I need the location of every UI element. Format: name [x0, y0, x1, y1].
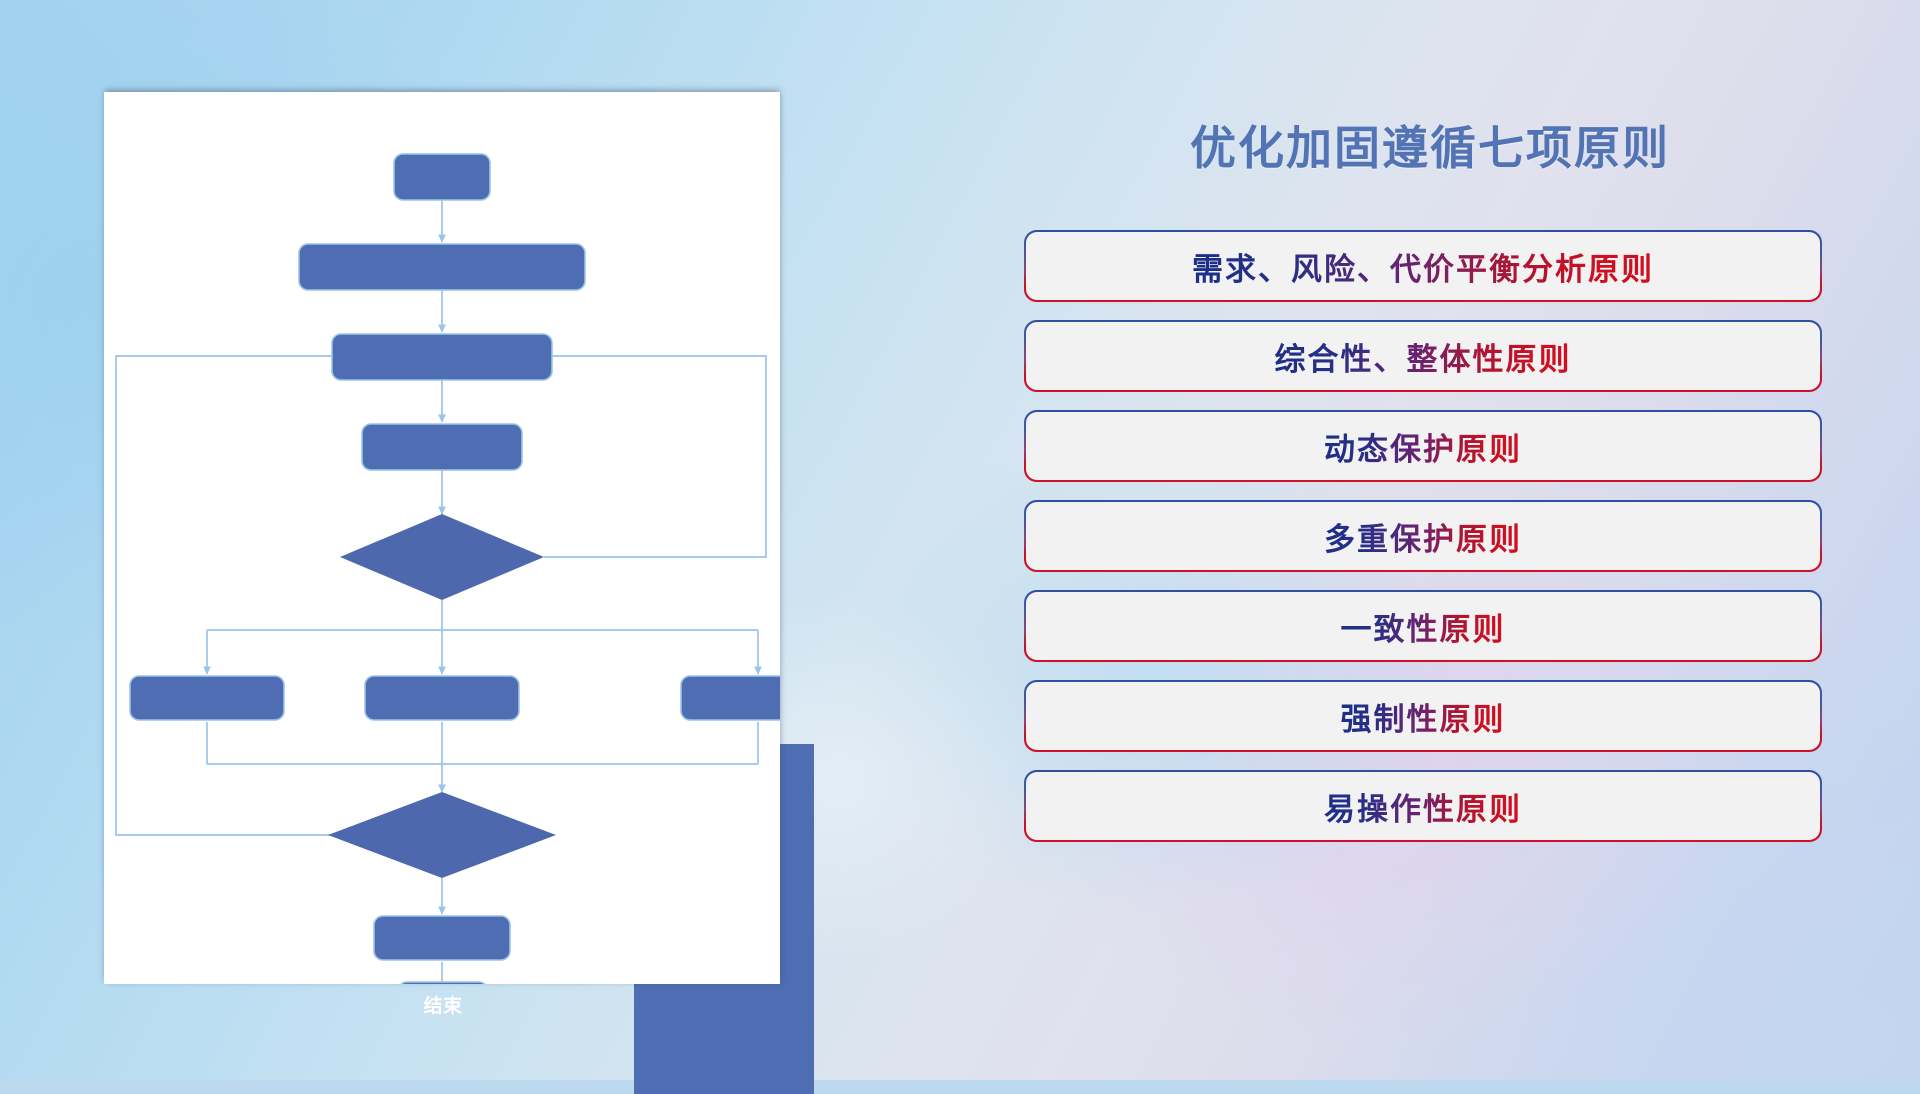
- principle-card-3[interactable]: 动态保护原则: [1026, 412, 1820, 480]
- page-title: 优化加固遵循七项原则: [1020, 112, 1840, 178]
- principle-card-label: 一致性原则: [1341, 604, 1506, 649]
- principle-card-label: 动态保护原则: [1324, 424, 1522, 469]
- flow-node-shapes: [130, 154, 780, 984]
- principles-panel: 优化加固遵循七项原则 需求、风险、代价平衡分析原则 综合性、整体性原则 动态保护…: [1020, 0, 1920, 1080]
- principle-card-label: 需求、风险、代价平衡分析原则: [1192, 244, 1654, 289]
- principle-card-label: 综合性、整体性原则: [1275, 334, 1572, 379]
- principles-list: 需求、风险、代价平衡分析原则 综合性、整体性原则 动态保护原则 多重保护原则 一…: [1026, 232, 1826, 862]
- principle-card-4[interactable]: 多重保护原则: [1026, 502, 1820, 570]
- principle-card-label: 强制性原则: [1341, 694, 1506, 739]
- principle-card-6[interactable]: 强制性原则: [1026, 682, 1820, 750]
- flowchart-panel: 开始 风险评估/第三方信息导入 制定优化/加固方案 提交申请 业主方确认 加固/…: [104, 92, 804, 992]
- flow-connectors: [207, 200, 758, 984]
- principle-card-1[interactable]: 需求、风险、代价平衡分析原则: [1026, 232, 1820, 300]
- principle-card-5[interactable]: 一致性原则: [1026, 592, 1820, 660]
- flowchart-diagram: [104, 92, 780, 984]
- flow-right-return-loop: [524, 356, 766, 557]
- principle-card-label: 易操作性原则: [1324, 784, 1522, 829]
- principle-card-2[interactable]: 综合性、整体性原则: [1026, 322, 1820, 390]
- principle-card-7[interactable]: 易操作性原则: [1026, 772, 1820, 840]
- principle-card-label: 多重保护原则: [1324, 514, 1522, 559]
